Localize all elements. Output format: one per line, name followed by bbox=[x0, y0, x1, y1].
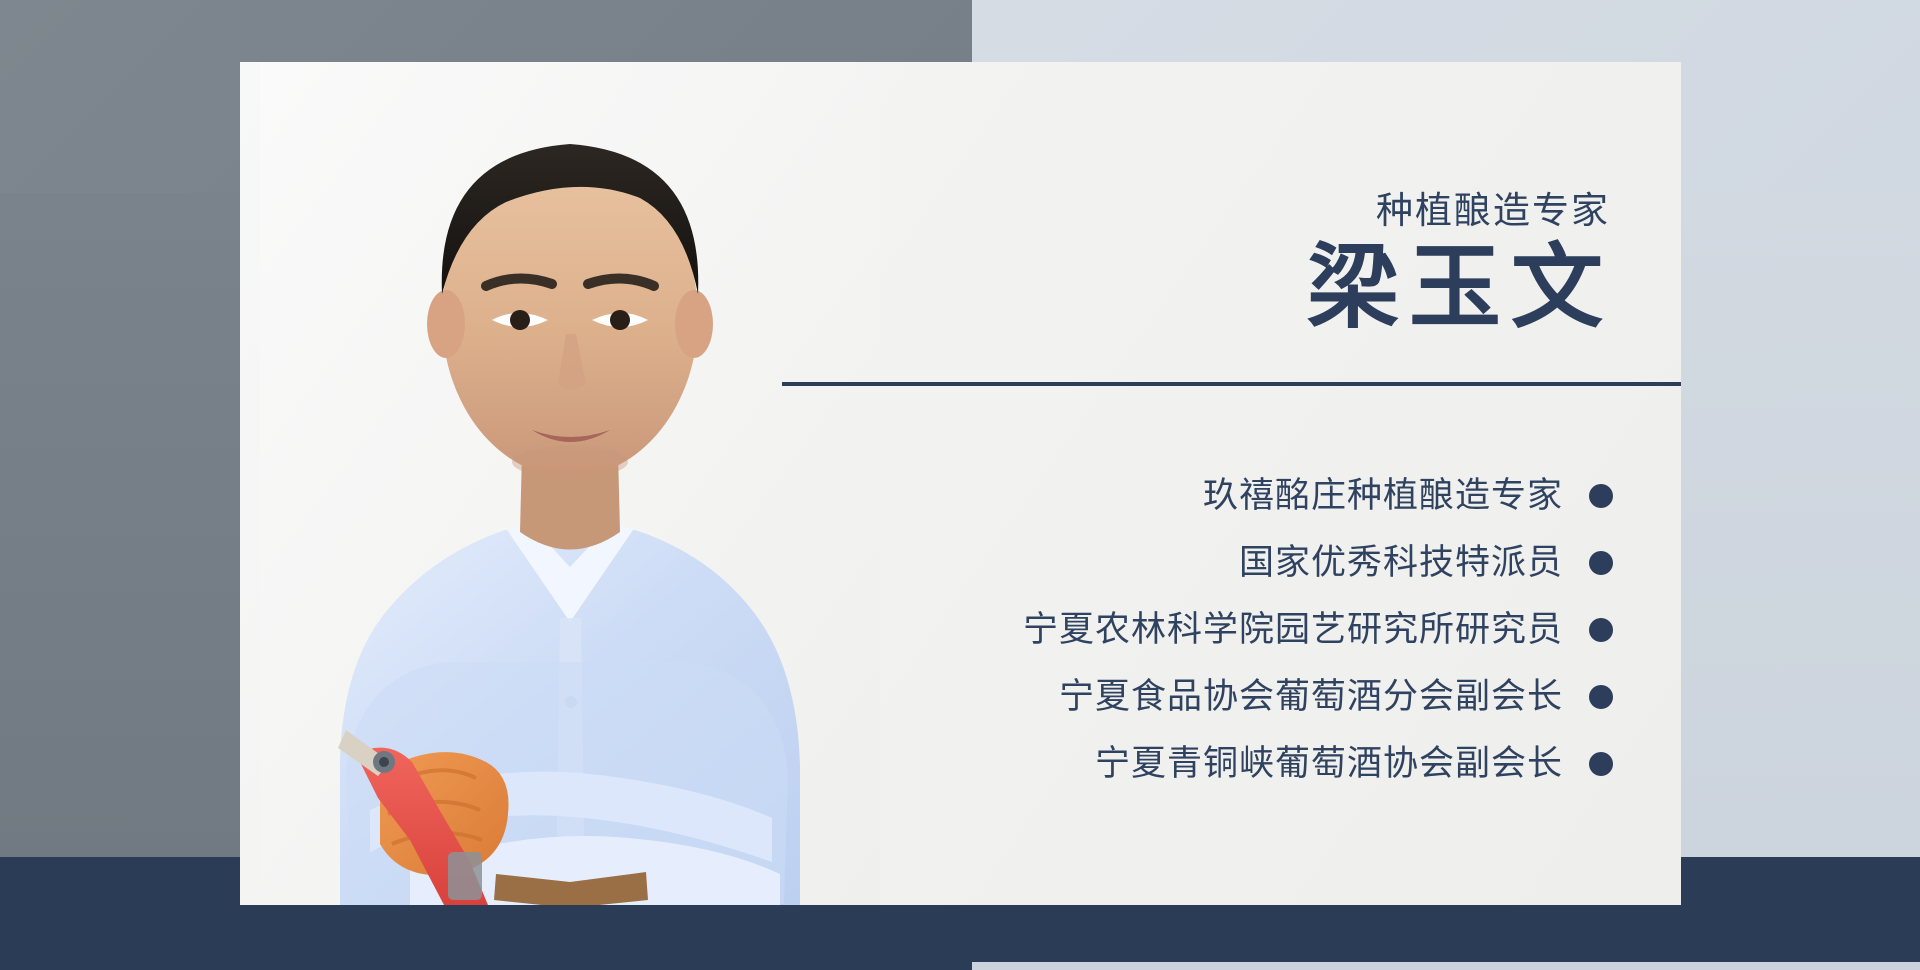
profile-subtitle: 种植酿造专家 bbox=[1376, 192, 1610, 229]
background-block-light-blue-right bbox=[1681, 193, 1920, 857]
credential-label: 宁夏农林科学院园艺研究所研究员 bbox=[1023, 612, 1563, 647]
profile-card: 种植酿造专家 梁玉文 玖禧酩庄种植酿造专家 国家优秀科技特派员 宁夏农林科学院园… bbox=[240, 62, 1681, 905]
bullet-dot-icon bbox=[1589, 618, 1613, 642]
credential-label: 宁夏食品协会葡萄酒分会副会长 bbox=[1059, 679, 1563, 714]
profile-content: 种植酿造专家 梁玉文 玖禧酩庄种植酿造专家 国家优秀科技特派员 宁夏农林科学院园… bbox=[900, 62, 1681, 905]
portrait-photo bbox=[260, 62, 880, 905]
credential-item: 宁夏农林科学院园艺研究所研究员 bbox=[893, 596, 1613, 663]
portrait-container bbox=[260, 62, 880, 905]
bullet-dot-icon bbox=[1589, 551, 1613, 575]
bullet-dot-icon bbox=[1589, 685, 1613, 709]
credential-label: 宁夏青铜峡葡萄酒协会副会长 bbox=[1095, 746, 1563, 781]
background-block-gray-left bbox=[0, 193, 240, 857]
credential-label: 国家优秀科技特派员 bbox=[1239, 545, 1563, 580]
bullet-dot-icon bbox=[1589, 752, 1613, 776]
credential-item: 国家优秀科技特派员 bbox=[893, 529, 1613, 596]
profile-name: 梁玉文 bbox=[1307, 240, 1613, 337]
divider-line bbox=[782, 382, 1681, 386]
credential-item: 宁夏食品协会葡萄酒分会副会长 bbox=[893, 663, 1613, 730]
bullet-dot-icon bbox=[1589, 484, 1613, 508]
profile-banner: 种植酿造专家 梁玉文 玖禧酩庄种植酿造专家 国家优秀科技特派员 宁夏农林科学院园… bbox=[0, 0, 1920, 970]
credential-item: 宁夏青铜峡葡萄酒协会副会长 bbox=[893, 730, 1613, 797]
background-strip-bottom bbox=[972, 962, 1920, 970]
credentials-list: 玖禧酩庄种植酿造专家 国家优秀科技特派员 宁夏农林科学院园艺研究所研究员 宁夏食… bbox=[893, 462, 1613, 797]
credential-label: 玖禧酩庄种植酿造专家 bbox=[1203, 478, 1563, 513]
credential-item: 玖禧酩庄种植酿造专家 bbox=[893, 462, 1613, 529]
